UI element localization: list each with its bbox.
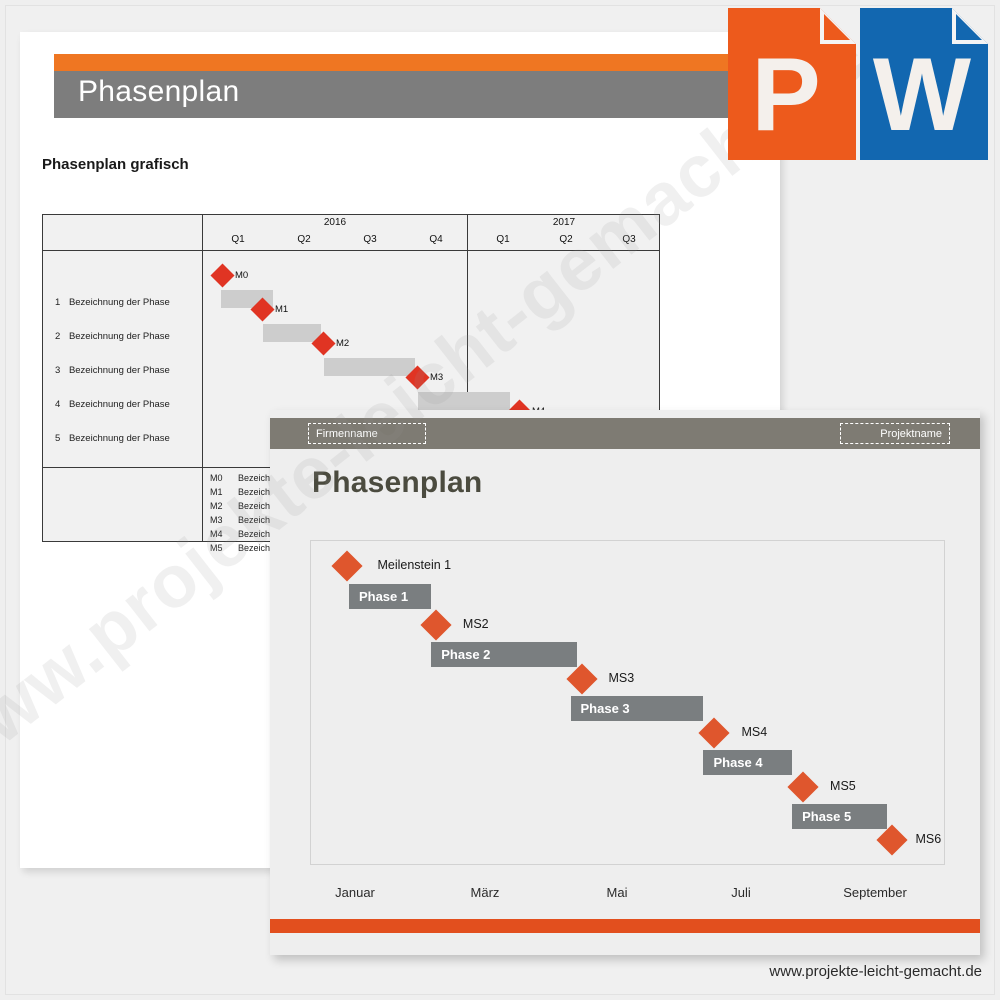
row-label-text: Bezeichnung der Phase: [69, 433, 170, 444]
back-table-year-2017: 2017: [468, 217, 660, 228]
slide-title: Phasenplan: [312, 466, 482, 500]
milestone-label: MS5: [830, 779, 856, 793]
back-milestone-diamond-icon: [210, 263, 234, 287]
x-axis-tick-mai: Mai: [562, 885, 672, 900]
milestone-label: MS6: [916, 832, 942, 846]
row-label-text: Bezeichnung der Phase: [69, 297, 170, 308]
slide-bottom-accent-bar: [270, 919, 980, 933]
gantt-chart-plot-area[interactable]: Meilenstein 1 Phase 1 MS2 Phase 2 MS3 Ph…: [310, 540, 945, 865]
row-number: 4: [55, 399, 60, 410]
back-table-row-label: 3 Bezeichnung der Phase: [55, 365, 170, 376]
powerpoint-icon: P: [728, 8, 856, 160]
milestone-label: MS3: [609, 671, 635, 685]
back-table-name-column: [43, 215, 203, 250]
back-table-row-label: 1 Bezeichnung der Phase: [55, 297, 170, 308]
back-milestone-label: M2: [336, 338, 349, 349]
phase-bar: Phase 1: [349, 584, 431, 609]
back-doc-subtitle: Phasenplan grafisch: [42, 156, 189, 173]
phase-bar: Phase 3: [571, 696, 704, 721]
back-table-bar: [324, 358, 415, 376]
word-icon: W: [860, 8, 988, 160]
milestone-diamond-icon: [420, 609, 451, 640]
back-table-quarter-2017-q2: Q2: [546, 234, 586, 245]
milestone-diamond-icon: [876, 824, 907, 855]
back-doc-title-band: Phasenplan: [54, 71, 780, 118]
company-name-placeholder[interactable]: Firmenname: [308, 423, 426, 444]
milestone-label: MS2: [463, 617, 489, 631]
row-number: 2: [55, 331, 60, 342]
back-table-year-2016: 2016: [203, 217, 467, 228]
back-milestone-label: M0: [235, 270, 248, 281]
back-table-header: 2016 2017 Q1 Q2 Q3 Q4 Q1 Q2 Q3: [43, 215, 659, 251]
row-label-text: Bezeichnung der Phase: [69, 365, 170, 376]
project-name-placeholder[interactable]: Projektname: [840, 423, 950, 444]
back-doc-orange-accent-bar: [54, 54, 780, 71]
milestone-label: MS4: [741, 725, 767, 739]
row-label-text: Bezeichnung der Phase: [69, 399, 170, 410]
milestone-diamond-icon: [699, 717, 730, 748]
back-table-bar: [263, 324, 321, 342]
milestone-diamond-icon: [332, 550, 363, 581]
back-table-quarter-2017-q3: Q3: [609, 234, 649, 245]
svg-text:W: W: [873, 37, 972, 153]
svg-text:P: P: [751, 37, 820, 153]
x-axis-tick-september: September: [810, 885, 940, 900]
phase-bar: Phase 4: [703, 750, 792, 775]
back-table-quarter-2017-q1: Q1: [483, 234, 523, 245]
back-table-footer-name-column: [43, 468, 203, 542]
back-table-bar: [418, 392, 510, 410]
row-number: 1: [55, 297, 60, 308]
front-powerpoint-slide[interactable]: Firmenname Projektname Phasenplan Meilen…: [270, 410, 980, 955]
phase-bar: Phase 5: [792, 804, 887, 829]
legend-milestone-id: M5: [210, 543, 223, 553]
back-milestone-label: M1: [275, 304, 288, 315]
screenshot-canvas: Phasenplan Phasenplan grafisch 2016 2017…: [0, 0, 1000, 1000]
slide-top-bar: Firmenname Projektname: [270, 418, 980, 449]
back-table-quarter-2016-q4: Q4: [416, 234, 456, 245]
legend-milestone-id: M4: [210, 529, 223, 539]
milestone-diamond-icon: [788, 771, 819, 802]
row-number: 3: [55, 365, 60, 376]
x-axis-tick-maerz: März: [430, 885, 540, 900]
milestone-diamond-icon: [566, 663, 597, 694]
back-table-row-label: 5 Bezeichnung der Phase: [55, 433, 170, 444]
legend-milestone-id: M1: [210, 487, 223, 497]
back-table-quarter-2016-q2: Q2: [284, 234, 324, 245]
legend-milestone-id: M0: [210, 473, 223, 483]
back-table-row-label: 4 Bezeichnung der Phase: [55, 399, 170, 410]
back-table-row-label: 2 Bezeichnung der Phase: [55, 331, 170, 342]
word-icon-svg: W: [860, 8, 988, 160]
phase-bar: Phase 2: [431, 642, 577, 667]
row-label-text: Bezeichnung der Phase: [69, 331, 170, 342]
back-milestone-label: M3: [430, 372, 443, 383]
row-number: 5: [55, 433, 60, 444]
footer-url: www.projekte-leicht-gemacht.de: [769, 963, 982, 980]
back-table-quarter-2016-q3: Q3: [350, 234, 390, 245]
legend-milestone-id: M3: [210, 515, 223, 525]
x-axis-tick-januar: Januar: [300, 885, 410, 900]
powerpoint-icon-svg: P: [728, 8, 856, 160]
x-axis-tick-juli: Juli: [686, 885, 796, 900]
back-doc-title: Phasenplan: [78, 75, 239, 109]
milestone-label: Meilenstein 1: [377, 558, 451, 572]
back-table-quarter-2016-q1: Q1: [218, 234, 258, 245]
legend-milestone-id: M2: [210, 501, 223, 511]
